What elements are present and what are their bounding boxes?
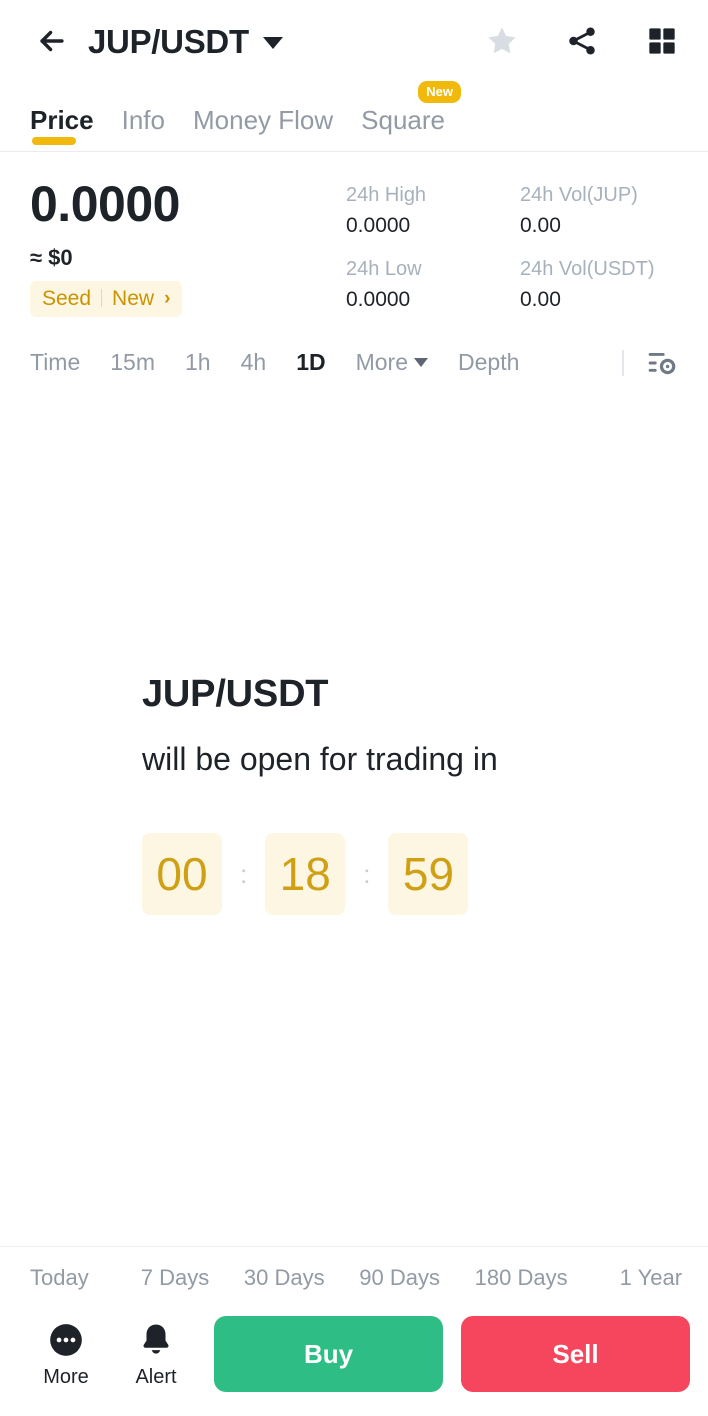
timeframe-15m[interactable]: 15m (110, 351, 155, 374)
timeframe-4h[interactable]: 4h (241, 351, 267, 374)
alert-button[interactable]: Alert (120, 1321, 192, 1387)
countdown-timer: 00 : 18 : 59 (142, 833, 678, 915)
new-tag-label: New (112, 288, 154, 309)
stat-24h-low: 24h Low 0.0000 (346, 256, 508, 312)
grid-menu-button[interactable] (642, 21, 682, 61)
period-30-days[interactable]: 30 Days (227, 1267, 342, 1289)
period-7-days[interactable]: 7 Days (123, 1267, 226, 1289)
countdown-seconds: 59 (388, 833, 468, 915)
period-tab-bar: Today 7 Days 30 Days 90 Days 180 Days 1 … (0, 1246, 708, 1308)
stat-24h-high-label: 24h High (346, 182, 508, 208)
countdown-pair: JUP/USDT (142, 674, 678, 716)
countdown-separator-1: : (236, 861, 251, 887)
action-bar: More Alert Buy Sell (0, 1308, 708, 1416)
trading-pair-screen: JUP/USDT (0, 0, 708, 1416)
stat-24h-low-value: 0.0000 (346, 287, 508, 312)
timeframe-depth[interactable]: Depth (458, 351, 519, 374)
stat-24h-high: 24h High 0.0000 (346, 182, 508, 238)
chart-settings-button[interactable] (642, 343, 682, 383)
price-summary: 0.0000 ≈ $0 Seed New › 24h High 0.0000 2… (0, 152, 708, 317)
countdown-hours: 00 (142, 833, 222, 915)
chevron-down-icon (414, 358, 428, 367)
page-title: JUP/USDT (88, 25, 249, 58)
tab-price-label: Price (30, 105, 94, 135)
seed-tag-divider (101, 289, 102, 307)
chevron-down-icon (263, 37, 283, 49)
timeframe-time[interactable]: Time (30, 351, 80, 374)
bell-icon (137, 1321, 175, 1359)
chevron-right-icon: › (164, 289, 170, 308)
share-button[interactable] (562, 21, 602, 61)
star-icon (485, 24, 519, 58)
more-button[interactable]: More (30, 1321, 102, 1387)
stat-24h-vol-quote-value: 0.00 (520, 287, 682, 312)
period-today[interactable]: Today (30, 1267, 123, 1289)
nav-tab-bar: Price Info Money Flow Square New (0, 82, 708, 152)
timeframe-more-button[interactable]: More (356, 351, 428, 374)
alert-button-label: Alert (135, 1367, 176, 1387)
stat-24h-vol-quote: 24h Vol(USDT) 0.00 (520, 256, 682, 312)
timeframe-more-label: More (356, 351, 408, 374)
back-button[interactable] (30, 19, 74, 63)
tab-info[interactable]: Info (122, 107, 165, 151)
last-price: 0.0000 (30, 178, 330, 231)
arrow-left-icon (35, 24, 69, 58)
top-bar: JUP/USDT (0, 0, 708, 82)
market-stats-grid: 24h High 0.0000 24h Vol(JUP) 0.00 24h Lo… (330, 178, 682, 317)
stat-24h-vol-base-value: 0.00 (520, 213, 682, 238)
timeframe-1h[interactable]: 1h (185, 351, 211, 374)
period-180-days[interactable]: 180 Days (457, 1267, 585, 1289)
tab-square-label: Square (361, 105, 445, 135)
countdown-separator-2: : (359, 861, 374, 887)
tab-price[interactable]: Price (30, 107, 94, 151)
chart-area[interactable]: JUP/USDT will be open for trading in 00 … (0, 403, 708, 1247)
chart-toolbar-right (622, 343, 682, 383)
fiat-price: ≈ $0 (30, 247, 330, 269)
chart-settings-icon (646, 347, 678, 379)
tab-square[interactable]: Square New (361, 107, 445, 151)
stat-24h-vol-quote-label: 24h Vol(USDT) (520, 256, 682, 282)
stat-24h-high-value: 0.0000 (346, 213, 508, 238)
toolbar-divider (622, 350, 624, 376)
period-90-days[interactable]: 90 Days (342, 1267, 457, 1289)
topbar-icon-group (482, 21, 682, 61)
seed-tag-button[interactable]: Seed New › (30, 281, 182, 317)
listing-countdown: JUP/USDT will be open for trading in 00 … (30, 674, 678, 915)
more-dots-icon (47, 1321, 85, 1359)
tab-square-new-badge: New (418, 81, 461, 103)
share-icon (565, 24, 599, 58)
sell-button[interactable]: Sell (461, 1316, 690, 1392)
stat-24h-vol-base-label: 24h Vol(JUP) (520, 182, 682, 208)
buy-button[interactable]: Buy (214, 1316, 443, 1392)
period-1-year[interactable]: 1 Year (585, 1267, 682, 1289)
stat-24h-vol-base: 24h Vol(JUP) 0.00 (520, 182, 682, 238)
stat-24h-low-label: 24h Low (346, 256, 508, 282)
tab-money-flow[interactable]: Money Flow (193, 107, 333, 151)
timeframe-1d[interactable]: 1D (296, 351, 325, 374)
timeframe-list: Time 15m 1h 4h 1D More Depth (30, 351, 519, 374)
grid-icon (646, 25, 678, 57)
more-button-label: More (43, 1367, 89, 1387)
countdown-minutes: 18 (265, 833, 345, 915)
seed-tag-label: Seed (42, 288, 91, 309)
countdown-message: will be open for trading in (142, 738, 572, 781)
chart-toolbar: Time 15m 1h 4h 1D More Depth (0, 317, 708, 403)
price-left-column: 0.0000 ≈ $0 Seed New › (30, 178, 330, 317)
tab-money-flow-label: Money Flow (193, 105, 333, 135)
favorite-button[interactable] (482, 21, 522, 61)
pair-selector[interactable]: JUP/USDT (88, 25, 283, 58)
tab-info-label: Info (122, 105, 165, 135)
